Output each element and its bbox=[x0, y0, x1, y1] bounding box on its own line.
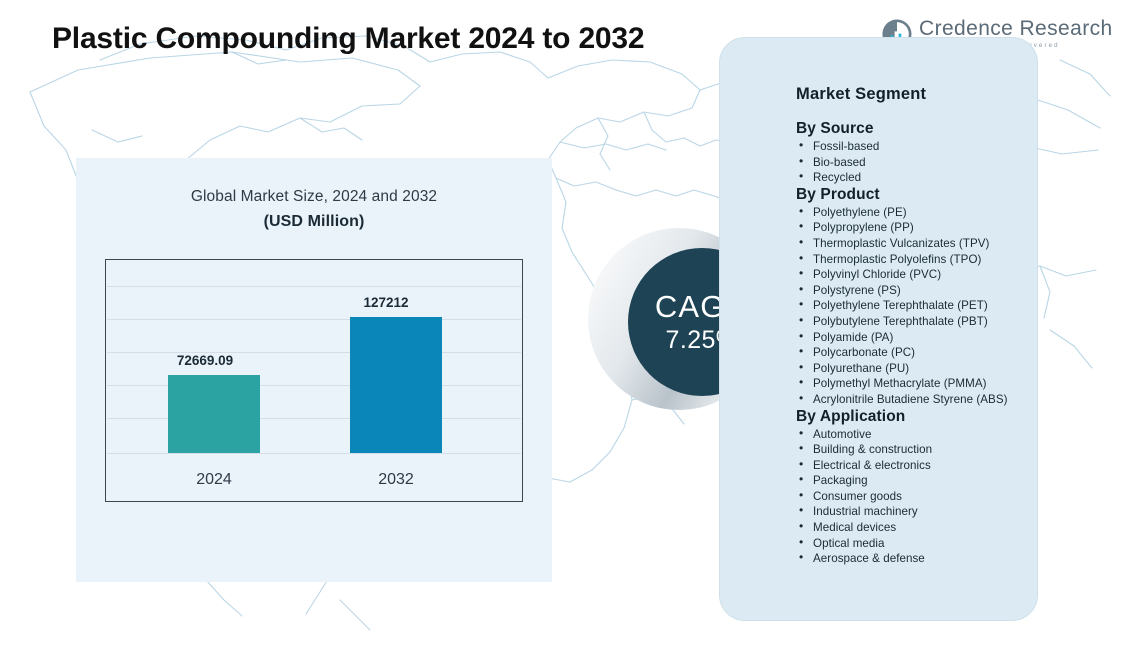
list-item: Polycarbonate (PC) bbox=[796, 345, 1046, 361]
segment-group-by-product: By Product Polyethylene (PE) Polypropyle… bbox=[796, 186, 1046, 408]
list-item: Optical media bbox=[796, 536, 1046, 552]
segment-content: Market Segment By Source Fossil-based Bi… bbox=[796, 85, 1046, 567]
segment-item-list: Polyethylene (PE) Polypropylene (PP) The… bbox=[796, 205, 1046, 408]
segment-group-title: By Source bbox=[796, 120, 1046, 138]
segment-group-by-application: By Application Automotive Building & con… bbox=[796, 408, 1046, 567]
bar-chart-plot-area: 72669.09 2024 127212 2032 bbox=[105, 259, 523, 502]
list-item: Polystyrene (PS) bbox=[796, 283, 1046, 299]
list-item: Electrical & electronics bbox=[796, 458, 1046, 474]
list-item: Aerospace & defense bbox=[796, 551, 1046, 567]
list-item: Consumer goods bbox=[796, 489, 1046, 505]
segment-group-title: By Application bbox=[796, 408, 1046, 426]
segment-group-by-source: By Source Fossil-based Bio-based Recycle… bbox=[796, 120, 1046, 186]
list-item: Thermoplastic Vulcanizates (TPV) bbox=[796, 236, 1046, 252]
list-item: Industrial machinery bbox=[796, 504, 1046, 520]
category-label-2024: 2024 bbox=[168, 471, 260, 489]
segment-item-list: Fossil-based Bio-based Recycled bbox=[796, 139, 1046, 186]
chart-subtitle: (USD Million) bbox=[76, 213, 552, 231]
gridline bbox=[107, 319, 521, 320]
list-item: Medical devices bbox=[796, 520, 1046, 536]
market-segment-panel: Market Segment By Source Fossil-based Bi… bbox=[719, 37, 1038, 621]
list-item: Acrylonitrile Butadiene Styrene (ABS) bbox=[796, 392, 1046, 408]
list-item: Polybutylene Terephthalate (PBT) bbox=[796, 314, 1046, 330]
list-item: Polyvinyl Chloride (PVC) bbox=[796, 267, 1046, 283]
page-title: Plastic Compounding Market 2024 to 2032 bbox=[52, 22, 644, 56]
list-item: Packaging bbox=[796, 473, 1046, 489]
market-size-chart-panel: Global Market Size, 2024 and 2032 (USD M… bbox=[76, 158, 552, 582]
bar-2024 bbox=[168, 375, 260, 453]
category-label-2032: 2032 bbox=[350, 471, 442, 489]
segment-panel-heading: Market Segment bbox=[796, 85, 1046, 104]
bar-value-label-2024: 72669.09 bbox=[140, 353, 270, 368]
list-item: Building & construction bbox=[796, 442, 1046, 458]
list-item: Polyethylene Terephthalate (PET) bbox=[796, 298, 1046, 314]
list-item: Thermoplastic Polyolefins (TPO) bbox=[796, 252, 1046, 268]
list-item: Polymethyl Methacrylate (PMMA) bbox=[796, 376, 1046, 392]
gridline-baseline bbox=[107, 453, 521, 454]
bar-2032 bbox=[350, 317, 442, 453]
segment-group-title: By Product bbox=[796, 186, 1046, 204]
infographic-canvas: Plastic Compounding Market 2024 to 2032 … bbox=[0, 0, 1137, 645]
segment-item-list: Automotive Building & construction Elect… bbox=[796, 427, 1046, 567]
list-item: Fossil-based bbox=[796, 139, 1046, 155]
list-item: Recycled bbox=[796, 170, 1046, 186]
list-item: Bio-based bbox=[796, 155, 1046, 171]
list-item: Polypropylene (PP) bbox=[796, 220, 1046, 236]
list-item: Polyethylene (PE) bbox=[796, 205, 1046, 221]
list-item: Automotive bbox=[796, 427, 1046, 443]
list-item: Polyamide (PA) bbox=[796, 330, 1046, 346]
chart-title: Global Market Size, 2024 and 2032 bbox=[76, 188, 552, 206]
gridline bbox=[107, 286, 521, 287]
bar-value-label-2032: 127212 bbox=[321, 295, 451, 310]
list-item: Polyurethane (PU) bbox=[796, 361, 1046, 377]
